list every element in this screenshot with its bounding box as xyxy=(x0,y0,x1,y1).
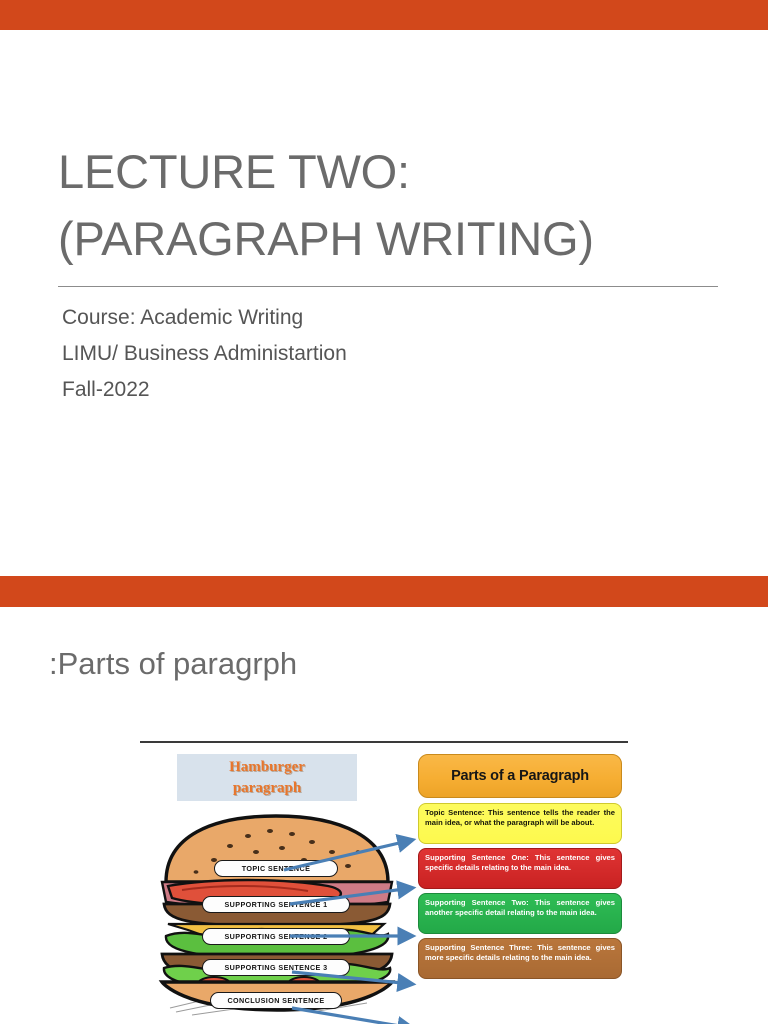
slide2-heading: :Parts of paragrph xyxy=(49,641,297,687)
subtitle-institution: LIMU/ Business Administartion xyxy=(62,336,682,372)
burger-label-support-2: SUPPORTING SENTENCE 2 xyxy=(202,928,350,945)
title-divider xyxy=(58,286,718,287)
parts-of-paragraph-panel: Parts of a Paragraph Topic Sentence: Thi… xyxy=(418,754,622,983)
subtitle-course: Course: Academic Writing xyxy=(62,300,682,336)
burger-illustration: TOPIC SENTENCE SUPPORTING SENTENCE 1 SUP… xyxy=(152,812,402,1017)
hamburger-title-line-2: paragraph xyxy=(233,778,301,799)
panel-item-supporting-two: Supporting Sentence Two: This sentence g… xyxy=(418,893,622,934)
hamburger-paragraph-figure: Hamburger paragraph xyxy=(140,740,628,1024)
burger-label-support-3: SUPPORTING SENTENCE 3 xyxy=(202,959,350,976)
hamburger-title-line-1: Hamburger xyxy=(229,757,305,778)
title-line-1: LECTURE TWO: xyxy=(58,138,718,205)
panel-item-supporting-three: Supporting Sentence Three: This sentence… xyxy=(418,938,622,979)
page-title: LECTURE TWO: (PARAGRAPH WRITING) xyxy=(58,138,718,272)
figure-top-rule xyxy=(140,741,628,743)
panel-item-topic-sentence: Topic Sentence: This sentence tells the … xyxy=(418,803,622,844)
title-line-2: (PARAGRAPH WRITING) xyxy=(58,205,718,272)
panel-header: Parts of a Paragraph xyxy=(418,754,622,798)
burger-label-conclusion: CONCLUSION SENTENCE xyxy=(210,992,342,1009)
burger-svg xyxy=(152,812,402,1017)
subtitle-block: Course: Academic Writing LIMU/ Business … xyxy=(62,300,682,408)
burger-label-topic: TOPIC SENTENCE xyxy=(214,860,338,877)
hamburger-title-box: Hamburger paragraph xyxy=(177,754,357,801)
accent-bar-top xyxy=(0,0,768,30)
accent-bar-second xyxy=(0,576,768,607)
slide-title: LECTURE TWO: (PARAGRAPH WRITING) Course:… xyxy=(0,0,768,576)
burger-label-support-1: SUPPORTING SENTENCE 1 xyxy=(202,896,350,913)
panel-item-supporting-one: Supporting Sentence One: This sentence g… xyxy=(418,848,622,889)
subtitle-term: Fall-2022 xyxy=(62,372,682,408)
